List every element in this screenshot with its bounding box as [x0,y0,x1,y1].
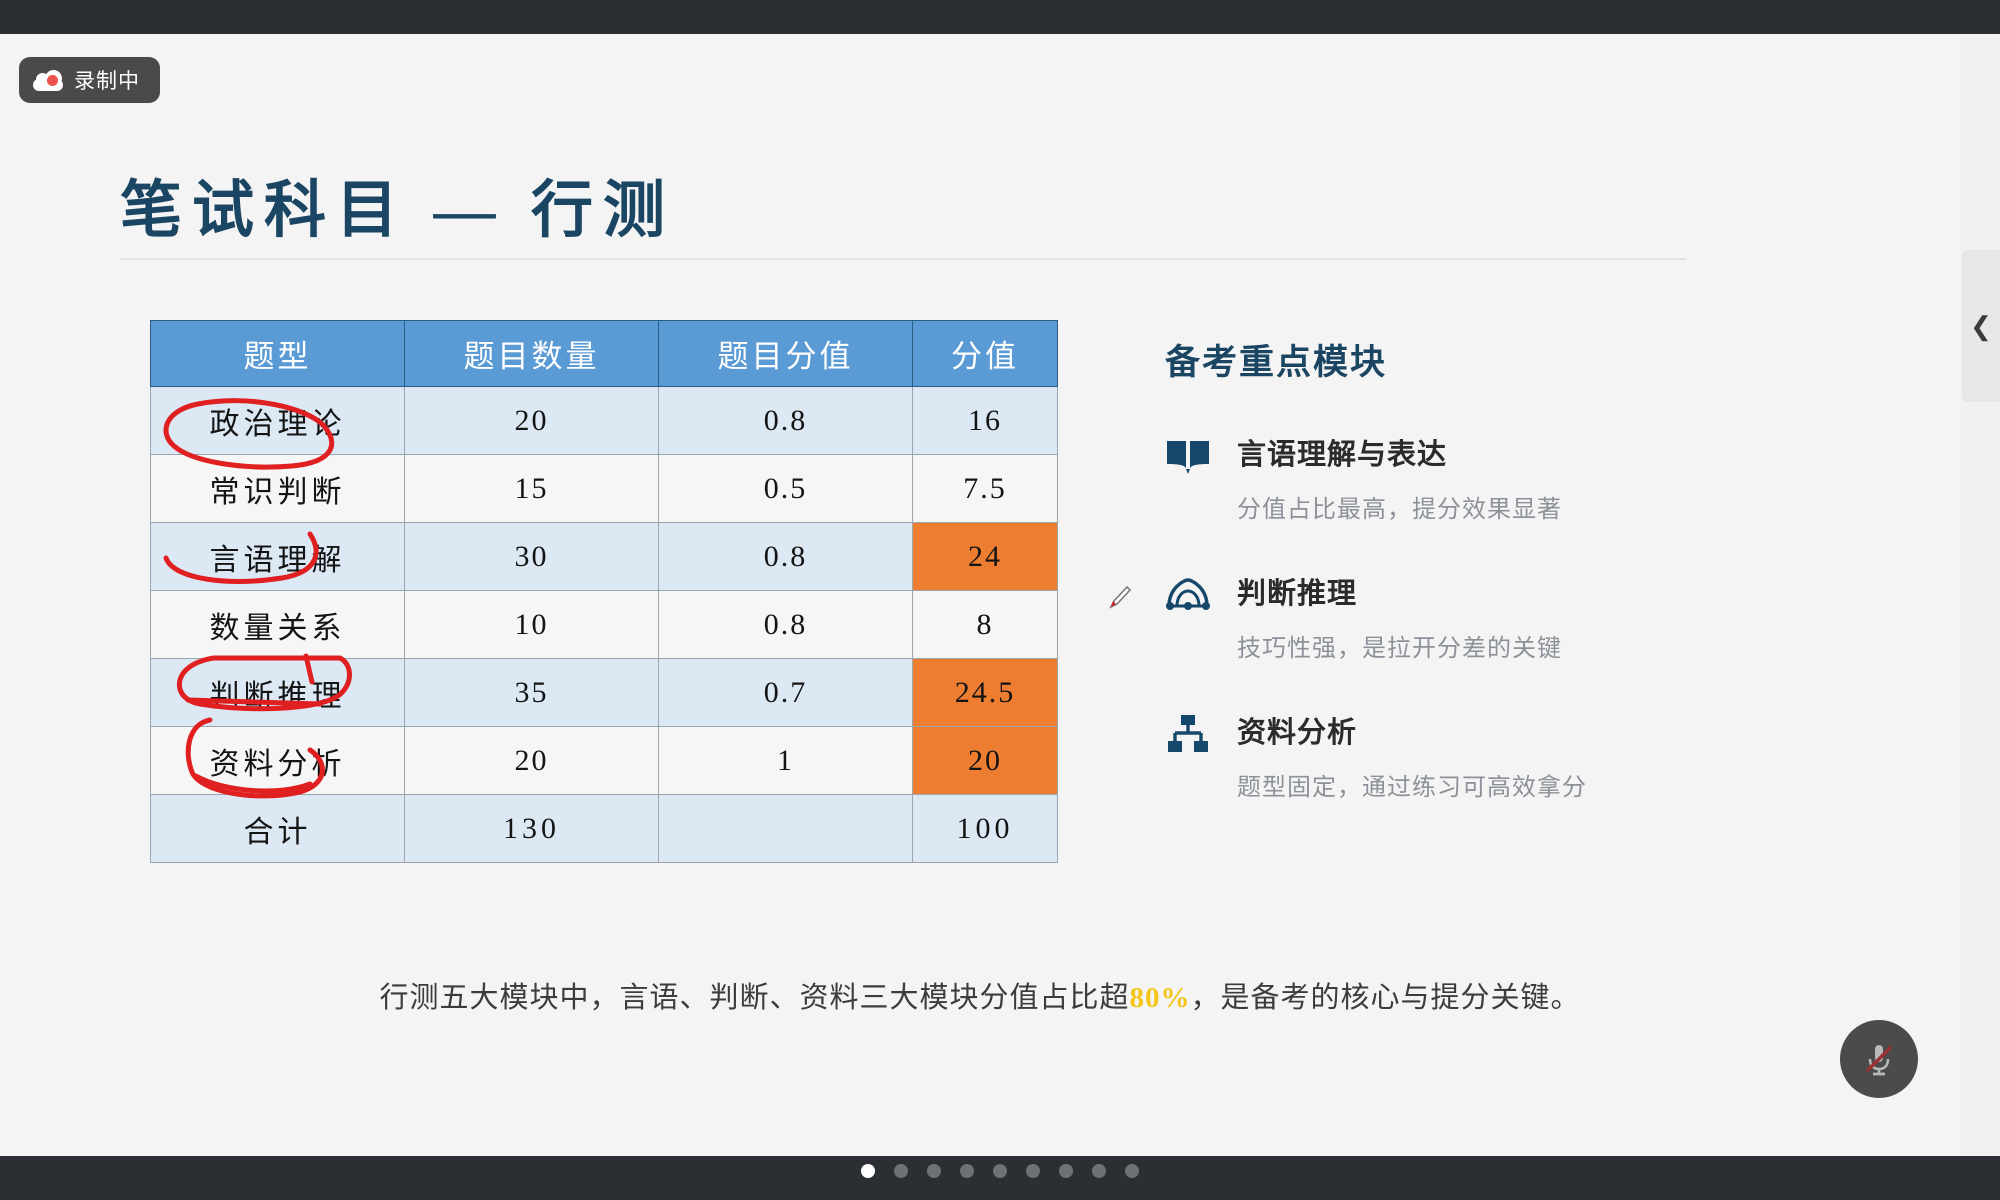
cell-value: 8 [913,591,1058,659]
module-item-yanyu: 言语理解与表达 分值占比最高，提分效果显著 [1165,429,1765,524]
cell-per: 0.8 [659,591,913,659]
footer-note-emphasis: 80% [1130,982,1191,1014]
pagination-dot[interactable] [1026,1164,1040,1178]
score-table-wrapper: 题型 题目数量 题目分值 分值 政治理论 20 0.8 16 常识判断 [150,320,1058,863]
cell-type: 政治理论 [151,387,405,455]
sitemap-icon [1165,711,1211,757]
module-desc: 分值占比最高，提分效果显著 [1237,489,1562,524]
panel-heading: 备考重点模块 [1165,334,1765,385]
pencil-cursor-icon [1105,584,1131,610]
table-row: 政治理论 20 0.8 16 [151,387,1058,455]
cell-value: 100 [913,795,1058,863]
cell-value: 7.5 [913,455,1058,523]
module-item-ziliao: 资料分析 题型固定，通过练习可高效拿分 [1165,707,1765,802]
top-bar [0,0,2000,34]
table-row-total: 合计 130 100 [151,795,1058,863]
table-body: 政治理论 20 0.8 16 常识判断 15 0.5 7.5 言语理解 30 [151,387,1058,863]
cell-count: 130 [405,795,659,863]
slide-canvas: 笔试科目 — 行测 题型 题目数量 题目分值 分值 [0,34,1960,1156]
cell-type: 判断推理 [151,659,405,727]
module-item-panduan: 判断推理 技巧性强，是拉开分差的关键 [1165,568,1765,663]
pagination-dot[interactable] [894,1164,908,1178]
page-title: 笔试科目 — 行测 [120,159,675,249]
table-row: 资料分析 20 1 20 [151,727,1058,795]
table-row: 常识判断 15 0.5 7.5 [151,455,1058,523]
screen-root: 笔试科目 — 行测 题型 题目数量 题目分值 分值 [0,0,2000,1200]
col-header-value: 分值 [913,321,1058,387]
module-name: 判断推理 [1237,570,1562,612]
title-divider [120,258,1686,260]
pagination-dot[interactable] [1125,1164,1139,1178]
microphone-mute-button[interactable] [1840,1020,1918,1098]
cell-count: 30 [405,523,659,591]
cell-count: 15 [405,455,659,523]
pagination-dot[interactable] [927,1164,941,1178]
footer-note-after: ，是备考的核心与提分关键。 [1191,982,1581,1014]
cell-count: 20 [405,387,659,455]
cell-value-highlighted: 20 [913,727,1058,795]
microphone-muted-icon [1857,1037,1901,1081]
cell-per [659,795,913,863]
module-desc: 技巧性强，是拉开分差的关键 [1237,628,1562,663]
panel-collapse-handle[interactable]: ❮ [1962,250,2000,402]
pagination-dots[interactable] [0,1164,2000,1178]
cell-value: 16 [913,387,1058,455]
col-header-per: 题目分值 [659,321,913,387]
col-header-count: 题目数量 [405,321,659,387]
table-row: 言语理解 30 0.8 24 [151,523,1058,591]
cell-per: 0.8 [659,523,913,591]
open-book-icon [1165,433,1211,479]
arch-network-icon [1165,572,1211,618]
cell-count: 20 [405,727,659,795]
pagination-dot[interactable] [960,1164,974,1178]
cell-type: 资料分析 [151,727,405,795]
cell-per: 0.8 [659,387,913,455]
cloud-record-icon [33,70,63,91]
cell-count: 10 [405,591,659,659]
score-table: 题型 题目数量 题目分值 分值 政治理论 20 0.8 16 常识判断 [150,320,1058,863]
module-name: 资料分析 [1237,709,1587,751]
cell-type: 合计 [151,795,405,863]
cell-type: 言语理解 [151,523,405,591]
table-row: 数量关系 10 0.8 8 [151,591,1058,659]
cell-type: 常识判断 [151,455,405,523]
cell-value-highlighted: 24.5 [913,659,1058,727]
right-gutter [1960,34,2000,1156]
table-header-row: 题型 题目数量 题目分值 分值 [151,321,1058,387]
table-row: 判断推理 35 0.7 24.5 [151,659,1058,727]
footer-note-before: 行测五大模块中，言语、判断、资料三大模块分值占比超 [379,982,1129,1014]
cell-type: 数量关系 [151,591,405,659]
cell-count: 35 [405,659,659,727]
pagination-dot[interactable] [1092,1164,1106,1178]
module-name: 言语理解与表达 [1237,431,1562,473]
cell-per: 0.5 [659,455,913,523]
pagination-dot[interactable] [1059,1164,1073,1178]
chevron-left-icon: ❮ [1970,311,1992,342]
module-desc: 题型固定，通过练习可高效拿分 [1237,767,1587,802]
col-header-type: 题型 [151,321,405,387]
cell-value-highlighted: 24 [913,523,1058,591]
recording-label: 录制中 [74,65,140,95]
pagination-dot[interactable] [861,1164,875,1178]
cell-per: 1 [659,727,913,795]
cell-per: 0.7 [659,659,913,727]
study-focus-panel: 备考重点模块 言语理解与表达 分值占比最高，提分效果显著 [1165,334,1765,846]
footer-note: 行测五大模块中，言语、判断、资料三大模块分值占比超80%，是备考的核心与提分关键… [0,974,1960,1016]
pagination-dot[interactable] [993,1164,1007,1178]
recording-badge[interactable]: 录制中 [19,57,160,103]
